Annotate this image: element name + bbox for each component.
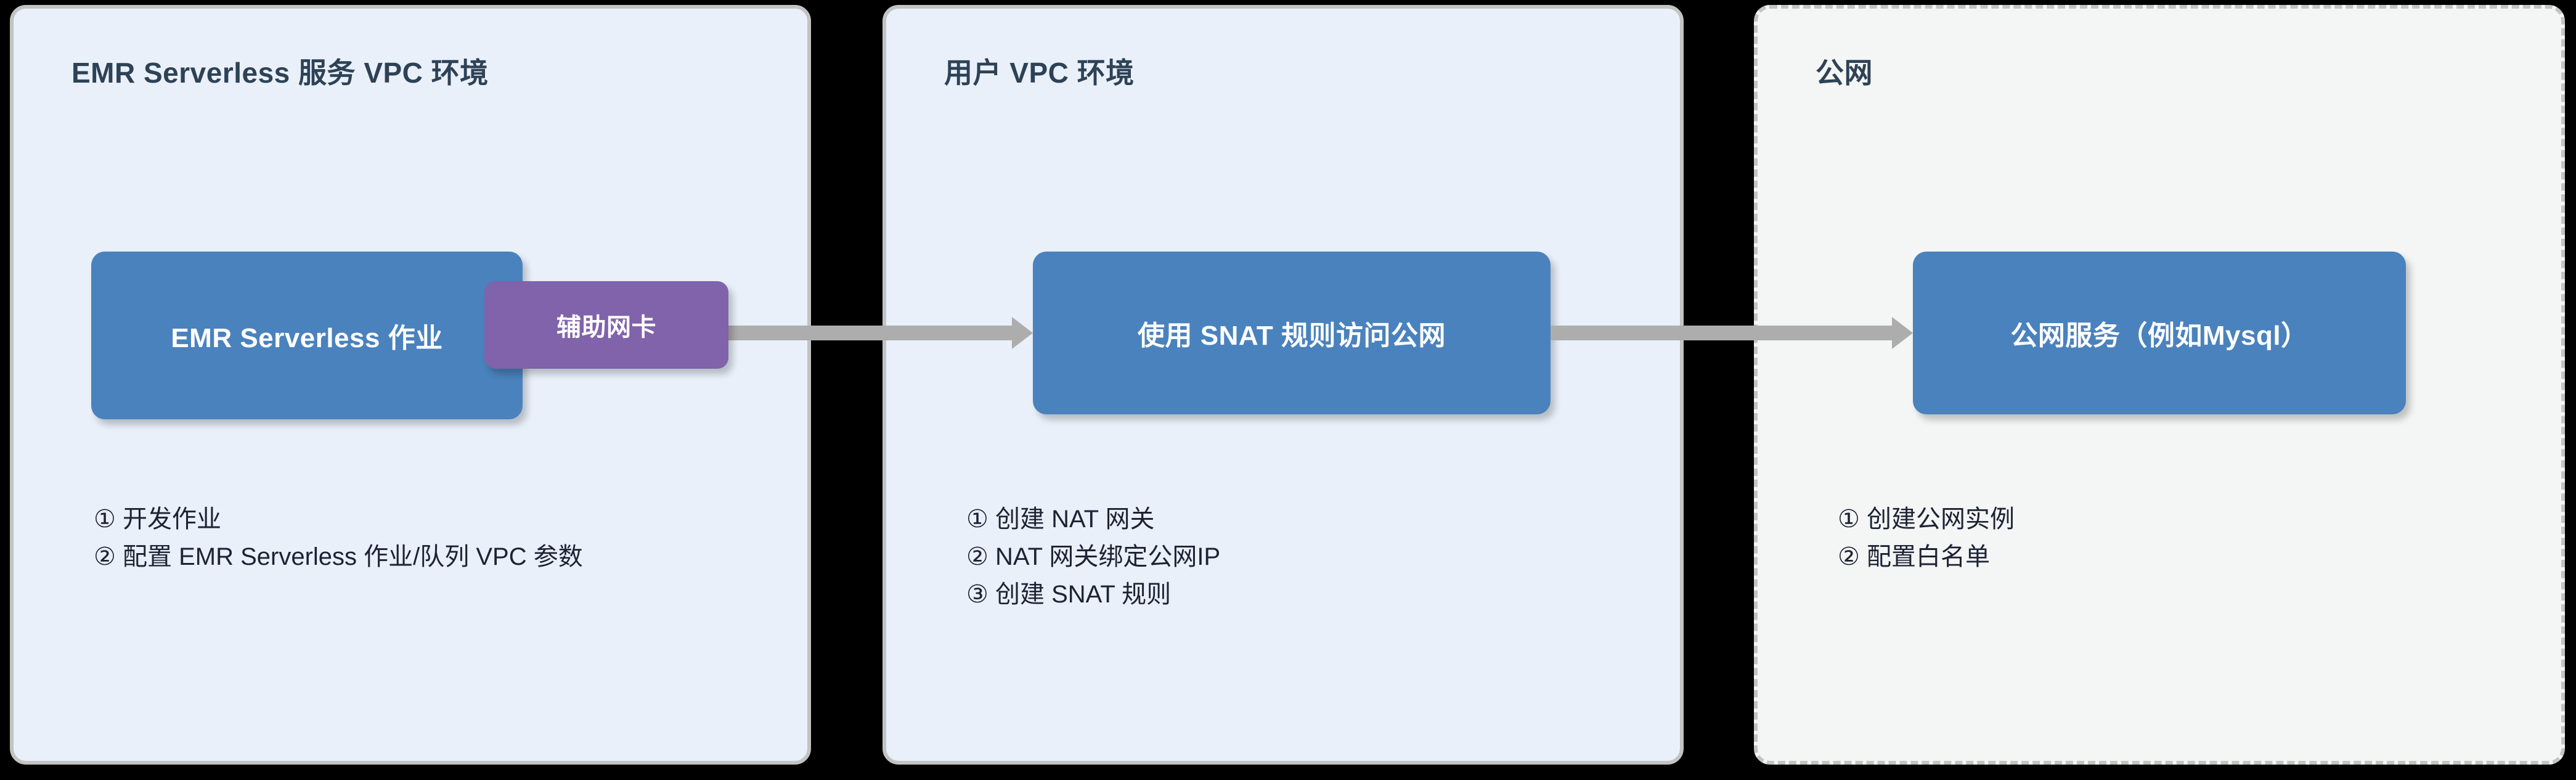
node-label: 使用 SNAT 规则访问公网: [1138, 313, 1446, 353]
step-item: ③ 创建 SNAT 规则: [966, 576, 1220, 614]
node-emr-serverless-job[interactable]: EMR Serverless 作业: [91, 252, 523, 419]
panel-title-emr-serverless-vpc: EMR Serverless 服务 VPC 环境: [71, 51, 489, 91]
step-item: ② 配置白名单: [1838, 538, 2015, 576]
step-item: ② 配置 EMR Serverless 作业/队列 VPC 参数: [94, 538, 583, 576]
node-public-service[interactable]: 公网服务（例如Mysql）: [1913, 252, 2406, 414]
node-label: 公网服务（例如Mysql）: [2010, 313, 2308, 353]
node-label: EMR Serverless 作业: [171, 316, 442, 355]
node-snat-access-internet[interactable]: 使用 SNAT 规则访问公网: [1033, 252, 1551, 414]
arrow-right-icon-snat-to-public: [1551, 326, 1893, 340]
arrow-right-icon-nic-to-snat: [726, 326, 1013, 340]
panel-title-user-vpc: 用户 VPC 环境: [944, 51, 1135, 91]
node-label: 辅助网卡: [556, 307, 656, 343]
step-item: ① 开发作业: [94, 501, 583, 538]
steps-list-user-vpc: ① 创建 NAT 网关 ② NAT 网关绑定公网IP ③ 创建 SNAT 规则: [966, 501, 1220, 613]
node-auxiliary-nic[interactable]: 辅助网卡: [484, 281, 728, 369]
panel-title-public-network: 公网: [1816, 51, 1873, 91]
steps-list-public-network: ① 创建公网实例 ② 配置白名单: [1838, 501, 2015, 576]
diagram-canvas: EMR Serverless 服务 VPC 环境 EMR Serverless …: [0, 0, 2576, 780]
step-item: ① 创建公网实例: [1838, 501, 2015, 538]
step-item: ① 创建 NAT 网关: [966, 501, 1220, 538]
step-item: ② NAT 网关绑定公网IP: [966, 538, 1220, 576]
steps-list-emr-serverless-vpc: ① 开发作业 ② 配置 EMR Serverless 作业/队列 VPC 参数: [94, 501, 583, 576]
